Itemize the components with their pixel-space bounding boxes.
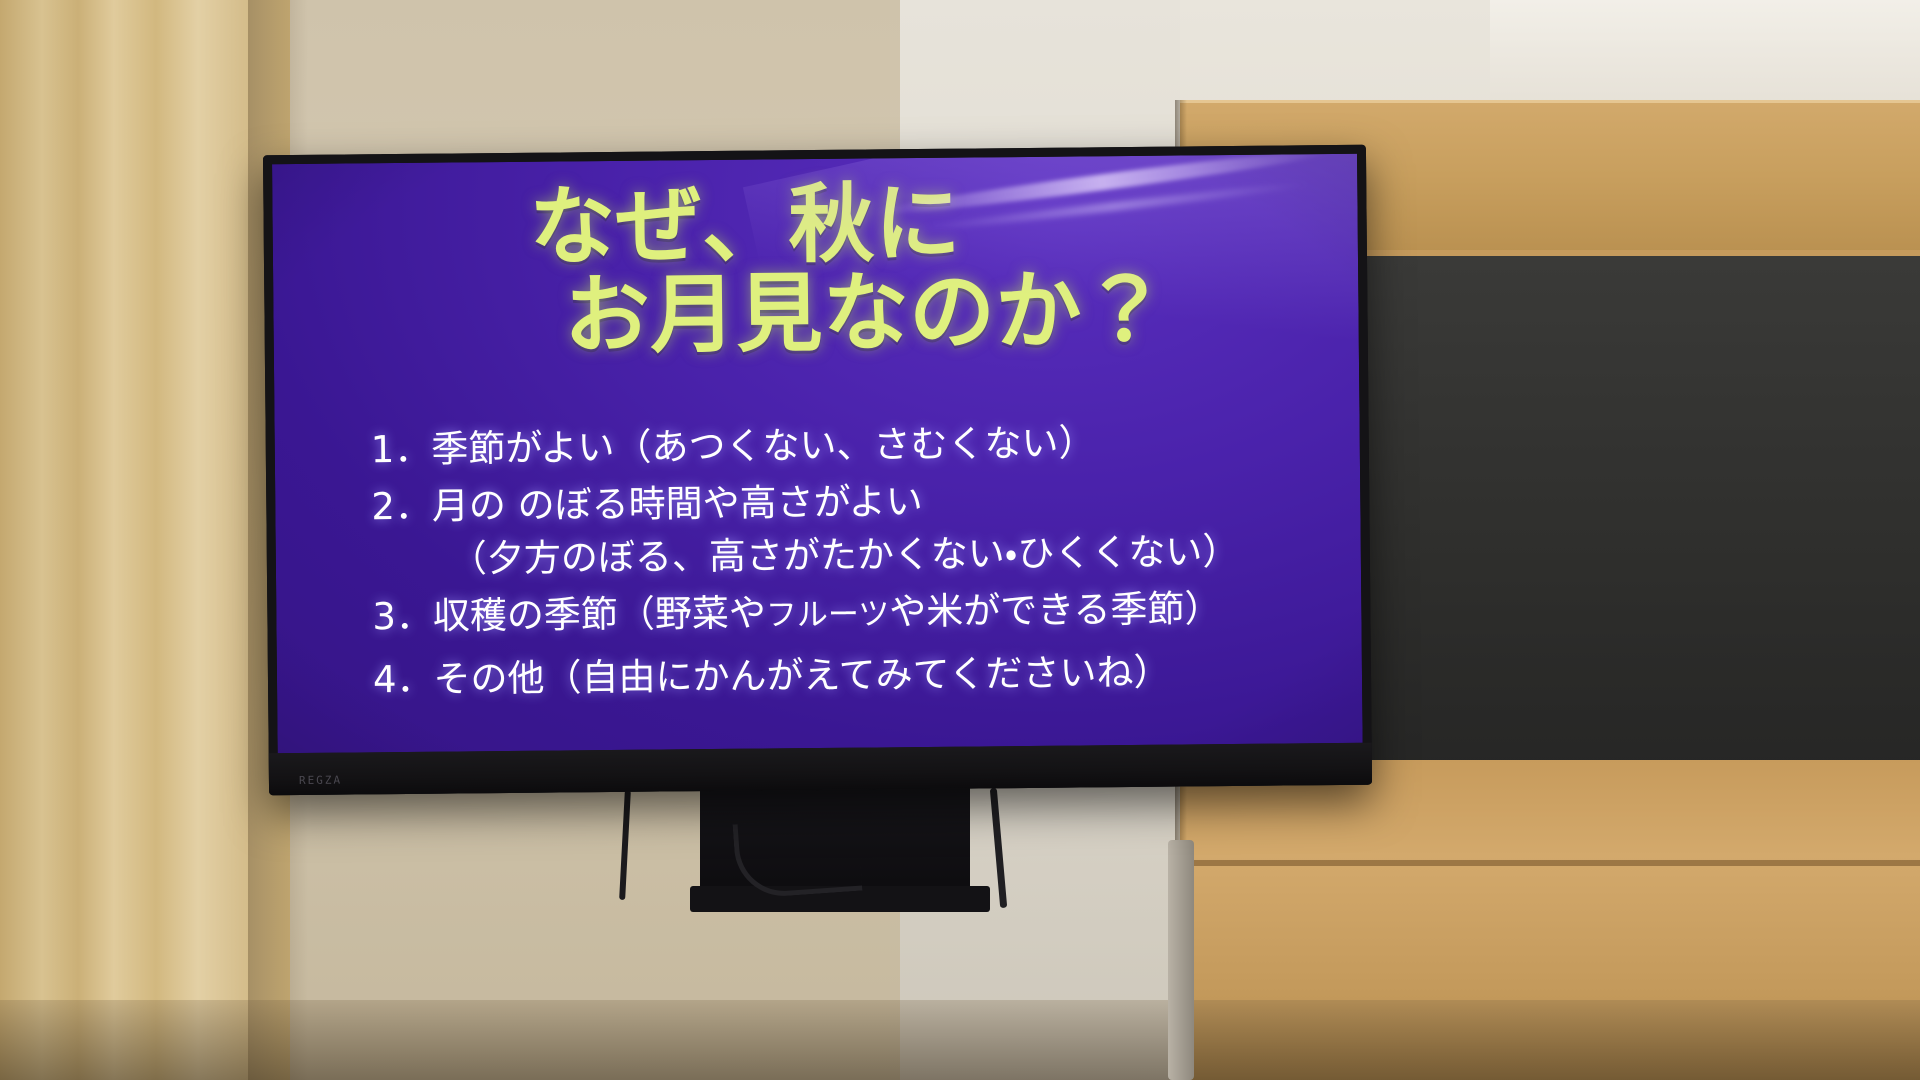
floor-shadow [0, 1000, 1920, 1080]
ceiling-strip [1490, 0, 1920, 105]
tv-brand-logo: REGZA [299, 774, 342, 787]
tv-bezel [263, 145, 1372, 796]
cabinet-seam [1180, 860, 1920, 866]
television-display[interactable]: なぜ、秋に お月見なのか？ 1．季節がよい（あつくない、さむくない） 2．月の … [263, 145, 1372, 796]
room-scene: なぜ、秋に お月見なのか？ 1．季節がよい（あつくない、さむくない） 2．月の … [0, 0, 1920, 1080]
vertical-pole [1168, 840, 1194, 1080]
